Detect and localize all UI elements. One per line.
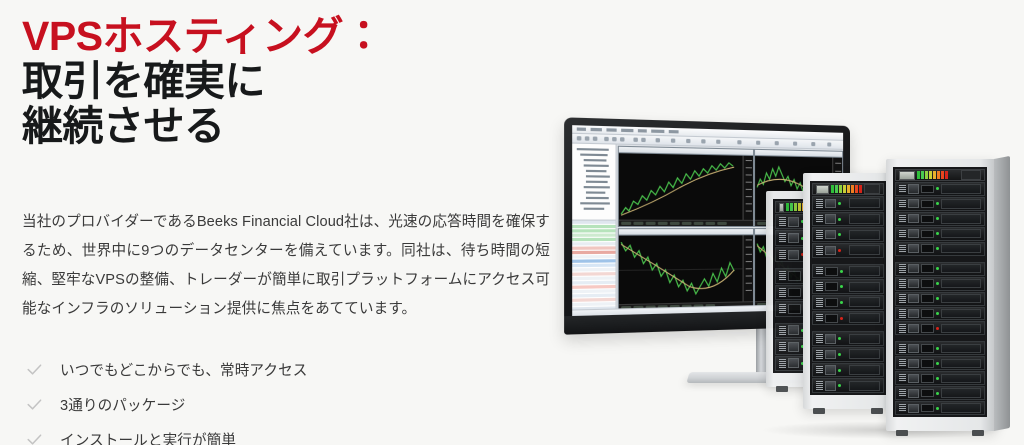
server-blade xyxy=(812,378,884,393)
rack-lcd-display xyxy=(899,171,915,180)
server-blade xyxy=(812,227,884,242)
rack-lcd-display xyxy=(816,185,829,194)
check-icon xyxy=(25,360,44,379)
intro-paragraph: 当社のプロバイダーであるBeeks Financial Cloud社は、光速の応… xyxy=(22,208,550,324)
server-blade xyxy=(812,331,884,346)
server-blade xyxy=(812,243,884,258)
rack-foot xyxy=(972,430,984,436)
rack-foot xyxy=(776,386,788,392)
page-title-line-2: 取引を確実に xyxy=(22,59,582,104)
check-icon xyxy=(25,430,44,445)
chart-window xyxy=(618,228,754,312)
server-blade xyxy=(895,307,985,321)
server-blade xyxy=(895,277,985,291)
vps-hosting-hero-section: VPSホスティング： 取引を確実に 継続させる 当社のプロバイダーであるBeek… xyxy=(0,0,1024,445)
server-blade xyxy=(812,295,884,310)
rack-front-face xyxy=(893,167,987,417)
page-title-line-3: 継続させる xyxy=(22,104,582,149)
chart-canvas xyxy=(619,153,753,221)
server-blade xyxy=(812,279,884,294)
platform-market-watch xyxy=(572,219,616,316)
list-item: インストールと実行が簡単 xyxy=(25,422,545,445)
feature-list: いつでもどこからでも、常時アクセス 3通りのパッケージ インストールと実行が簡単 xyxy=(25,352,545,445)
list-item-label: いつでもどこからでも、常時アクセス xyxy=(60,359,307,380)
list-item-label: 3通りのパッケージ xyxy=(60,394,185,415)
rack-lcd-display xyxy=(779,203,784,212)
server-blade xyxy=(812,196,884,211)
chart-price-scale xyxy=(743,156,753,221)
server-blade xyxy=(812,347,884,362)
server-blade xyxy=(812,311,884,326)
server-blade xyxy=(895,242,985,256)
server-blade xyxy=(895,321,985,335)
server-rack-front xyxy=(886,159,996,431)
server-blade xyxy=(812,264,884,279)
rack-foot xyxy=(813,408,825,414)
server-blade xyxy=(895,386,985,400)
server-blade xyxy=(895,292,985,306)
rack-status-panel xyxy=(812,183,884,195)
chart-canvas xyxy=(619,235,753,305)
server-blade xyxy=(895,356,985,370)
rack-led-bar xyxy=(917,171,948,179)
rack-head-tail-panel xyxy=(961,170,981,180)
rack-status-panel xyxy=(895,169,985,181)
server-blade xyxy=(895,212,985,226)
server-blade xyxy=(812,363,884,378)
server-blade xyxy=(895,262,985,276)
rack-foot xyxy=(896,430,908,436)
server-blade xyxy=(895,341,985,355)
server-blade xyxy=(895,371,985,385)
server-blade xyxy=(895,182,985,196)
rack-front-face xyxy=(810,181,886,395)
page-title: VPSホスティング： 取引を確実に 継続させる xyxy=(22,14,582,149)
list-item: いつでもどこからでも、常時アクセス xyxy=(25,352,545,387)
copy-column: VPSホスティング： 取引を確実に 継続させる 当社のプロバイダーであるBeek… xyxy=(22,0,582,445)
hero-illustration xyxy=(560,0,1024,445)
server-blade xyxy=(895,227,985,241)
server-blade xyxy=(895,197,985,211)
list-item-label: インストールと実行が簡単 xyxy=(60,429,236,445)
rack-foot xyxy=(871,408,883,414)
server-blade xyxy=(895,401,985,415)
rack-led-bar xyxy=(831,185,862,193)
server-blade xyxy=(812,212,884,227)
check-icon xyxy=(25,395,44,414)
rack-side-panel xyxy=(994,156,1010,431)
chart-timeframe-tabs[interactable] xyxy=(619,220,753,226)
page-title-line-1: VPSホスティング： xyxy=(22,14,582,59)
chart-price-scale xyxy=(743,235,753,302)
rack-head-tail-panel xyxy=(864,184,880,194)
list-item: 3通りのパッケージ xyxy=(25,387,545,422)
server-rack-middle xyxy=(803,173,895,409)
chart-window xyxy=(618,146,754,227)
